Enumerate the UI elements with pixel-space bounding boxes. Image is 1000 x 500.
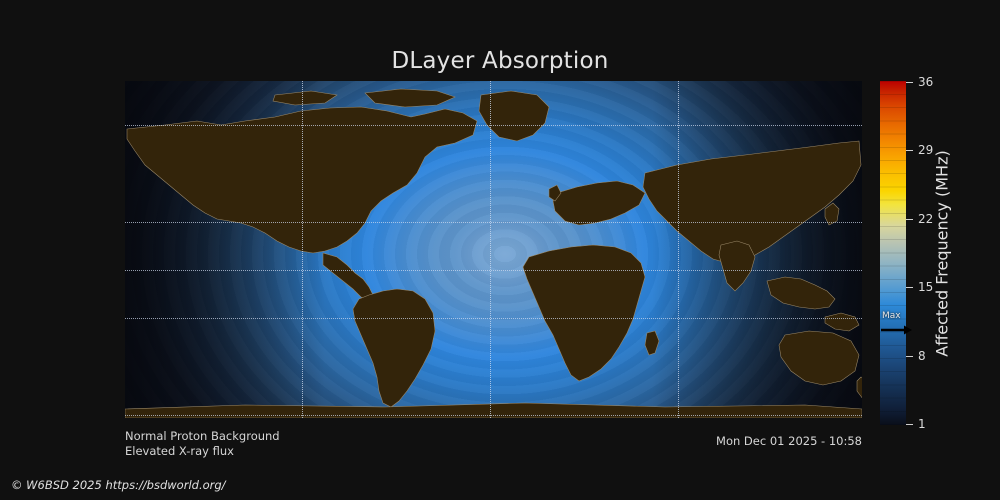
xray-status: Elevated X-ray flux	[125, 444, 280, 459]
colorbar-max-label: Max	[882, 311, 901, 321]
status-captions: Normal Proton Background Elevated X-ray …	[125, 429, 280, 459]
colorbar-tick-1	[906, 424, 913, 425]
screenshot-root: DLayer Absorption	[0, 0, 1000, 500]
coastline-overlay	[125, 81, 862, 418]
colorbar-tick-29	[906, 150, 913, 151]
graticule-meridian-90w	[302, 81, 303, 418]
graticule-meridian-90e	[678, 81, 679, 418]
colorbar-tick-22	[906, 219, 913, 220]
proton-status: Normal Proton Background	[125, 429, 280, 444]
colorbar-tick-36	[906, 82, 913, 83]
timestamp: Mon Dec 01 2025 - 10:58	[716, 434, 862, 448]
copyright-footer: © W6BSD 2025 https://bsdworld.org/	[11, 478, 226, 492]
colorbar-tick-label-8: 8	[918, 349, 926, 363]
graticule-parallel-60n	[125, 125, 862, 126]
page-title: DLayer Absorption	[0, 48, 1000, 74]
colorbar-axis-title-text: Affected Frequency (MHz)	[933, 150, 952, 356]
colorbar-tick-15	[906, 287, 913, 288]
colorbar[interactable]: 36 29 22 15 8 1 Max	[880, 81, 906, 425]
graticule-parallel-30n	[125, 222, 862, 223]
colorbar-axis-title: Affected Frequency (MHz)	[930, 81, 954, 425]
colorbar-tick-label-1: 1	[918, 417, 926, 431]
colorbar-discrete-steps	[880, 81, 906, 425]
world-map[interactable]	[125, 81, 862, 418]
graticule-parallel-30s	[125, 318, 862, 319]
graticule-parallel-60s	[125, 415, 862, 416]
graticule-parallel-0	[125, 270, 862, 271]
colorbar-tick-8	[906, 356, 913, 357]
arrow-right-icon	[880, 325, 912, 335]
graticule-meridian-0	[490, 81, 491, 418]
